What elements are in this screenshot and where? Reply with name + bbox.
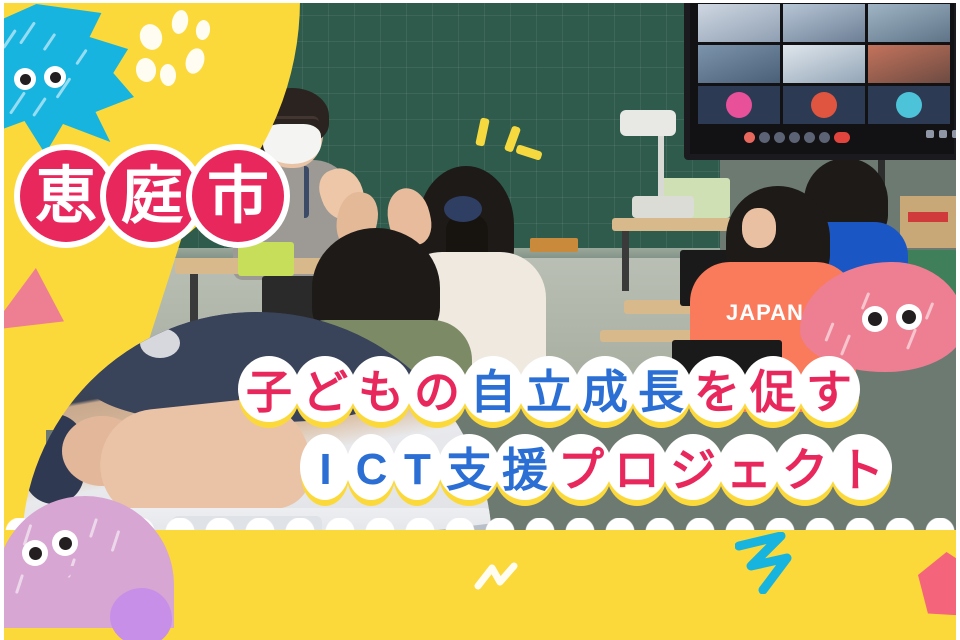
title-char-blob: ェ [718,434,780,506]
video-tile [698,45,780,83]
title-char: 促 [750,369,796,415]
eye-icon [862,306,888,332]
video-tile [698,4,780,42]
eye-icon [896,304,922,330]
video-grid [698,4,950,124]
box-tape [908,212,948,222]
purple-dot-decoration [110,588,172,640]
title-line-1: 子どもの自立成長を促す [238,356,954,428]
video-tile-avatar [783,86,865,124]
document-camera-head [620,110,676,136]
participants-icon [789,132,800,143]
title-char-blob: の [406,356,468,428]
poster-canvas: JAPAN [0,0,960,640]
video-tile-avatar [868,86,950,124]
title-char-blob: 長 [630,356,692,428]
title-char-blob: ク [774,434,836,506]
title-char: 子 [246,369,292,415]
settings-icon [926,130,934,138]
camera-icon [759,132,770,143]
eye-icon [14,68,36,90]
title-char: I [319,448,330,492]
title-char: 援 [502,447,548,493]
conference-toolbar-right [926,130,960,138]
title-char: T [404,448,430,492]
title-char: ど [302,369,348,415]
video-tile [868,45,950,83]
title-char: の [414,369,460,415]
title-char: 自 [470,369,516,415]
video-tile [868,4,950,42]
poster-title: 子どもの自立成長を促す ICT支援プロジェクト [238,356,954,506]
title-char: 支 [446,447,492,493]
microphone-icon [744,132,755,143]
title-char-blob: 子 [238,356,300,428]
shirt-highlight [140,328,180,358]
municipality-badge: 恵 庭 市 [14,144,272,248]
video-tile [783,4,865,42]
title-char-blob: 自 [462,356,524,428]
eye-icon [52,530,78,556]
title-char: も [358,369,404,415]
title-char-blob: T [392,434,442,506]
chat-icon [804,132,815,143]
chalkboard-eraser [530,238,578,252]
layout-icon [939,130,947,138]
desk-leg [622,231,629,291]
eye-icon [22,540,48,566]
title-char-blob: プ [550,434,612,506]
title-char: ク [782,447,828,493]
participant-avatar [811,92,837,118]
title-line-2: ICT支援プロジェクト [300,434,954,506]
badge-char: 市 [207,165,269,227]
title-char: ロ [614,447,660,493]
title-char-blob: す [798,356,860,428]
badge-char-circle: 市 [186,144,290,248]
cyan-zigzag-small-decoration [474,560,518,592]
title-char-blob: 立 [518,356,580,428]
title-char-blob: も [350,356,412,428]
eye-icon [44,66,66,88]
participant-avatar [726,92,752,118]
student-hand [742,208,776,248]
video-tile-avatar [698,86,780,124]
title-char-blob: 支 [438,434,500,506]
title-char: を [694,369,740,415]
title-char-blob: 援 [494,434,556,506]
video-conference-display [684,0,960,160]
title-char: プ [558,447,604,493]
title-char: 立 [526,369,572,415]
badge-char: 恵 [35,165,97,227]
title-char-blob: I [300,434,350,506]
hair-tie [444,196,482,222]
hangup-icon [834,132,850,143]
title-char-blob: を [686,356,748,428]
more-options-icon [819,132,830,143]
title-char-blob: ト [830,434,892,506]
participant-avatar [896,92,922,118]
cyan-zigzag-decoration [735,532,805,594]
document-camera-base [632,196,694,218]
title-char: ェ [726,447,772,493]
title-char: 長 [638,369,684,415]
title-char: ト [838,447,884,493]
title-char-blob: ロ [606,434,668,506]
cardboard-box [900,196,956,248]
title-char: す [806,369,852,415]
conference-toolbar [744,130,904,144]
title-char-blob: ど [294,356,356,428]
title-char: C [356,448,387,492]
title-char-blob: ジ [662,434,724,506]
video-tile [783,45,865,83]
badge-char: 庭 [121,165,183,227]
page-edge-left [0,0,4,640]
page-edge-right [956,0,960,640]
title-char-blob: 成 [574,356,636,428]
title-char: 成 [582,369,628,415]
title-char-blob: 促 [742,356,804,428]
title-char: ジ [670,447,716,493]
share-screen-icon [774,132,785,143]
title-char-blob: C [346,434,396,506]
classroom-desk [612,218,742,231]
page-edge-top [0,0,960,3]
